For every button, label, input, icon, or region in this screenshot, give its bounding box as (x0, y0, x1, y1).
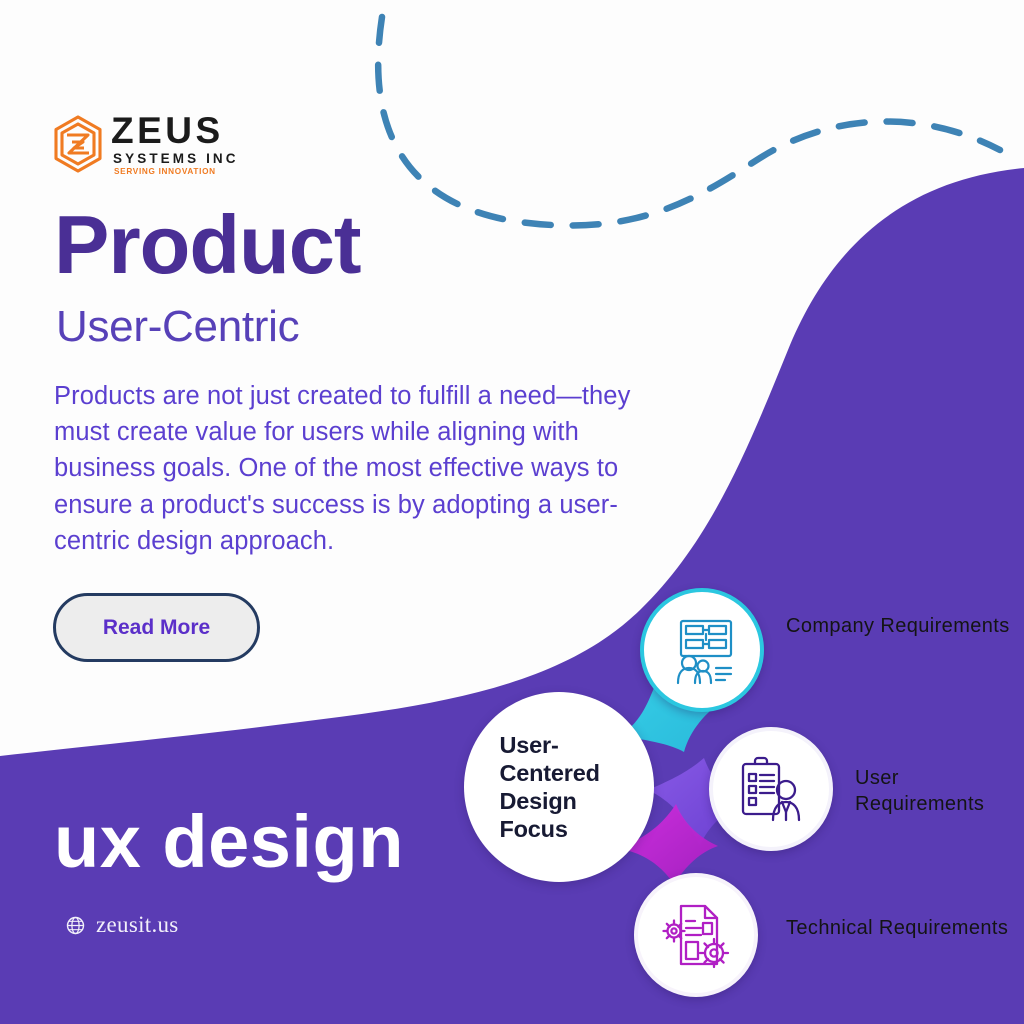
hub-node[interactable]: User-Centered Design Focus (464, 692, 654, 882)
label-user-requirements: User Requirements (855, 765, 1024, 818)
hub-label: User-Centered Design Focus (492, 731, 627, 844)
node-company-requirements[interactable] (640, 588, 764, 712)
label-technical-requirements: Technical Requirements (786, 915, 1008, 941)
clipboard-checklist-person-icon (734, 752, 808, 826)
node-user-requirements[interactable] (709, 727, 833, 851)
presentation-board-person-icon (665, 613, 739, 687)
node-technical-requirements[interactable] (634, 873, 758, 997)
label-company-requirements: Company Requirements (786, 613, 1010, 639)
infographic: User-Centered Design Focus (0, 0, 1024, 1024)
poster-canvas: ZEUS SYSTEMS INC SERVING INNOVATION Prod… (0, 0, 1024, 1024)
document-gears-icon (659, 898, 733, 972)
